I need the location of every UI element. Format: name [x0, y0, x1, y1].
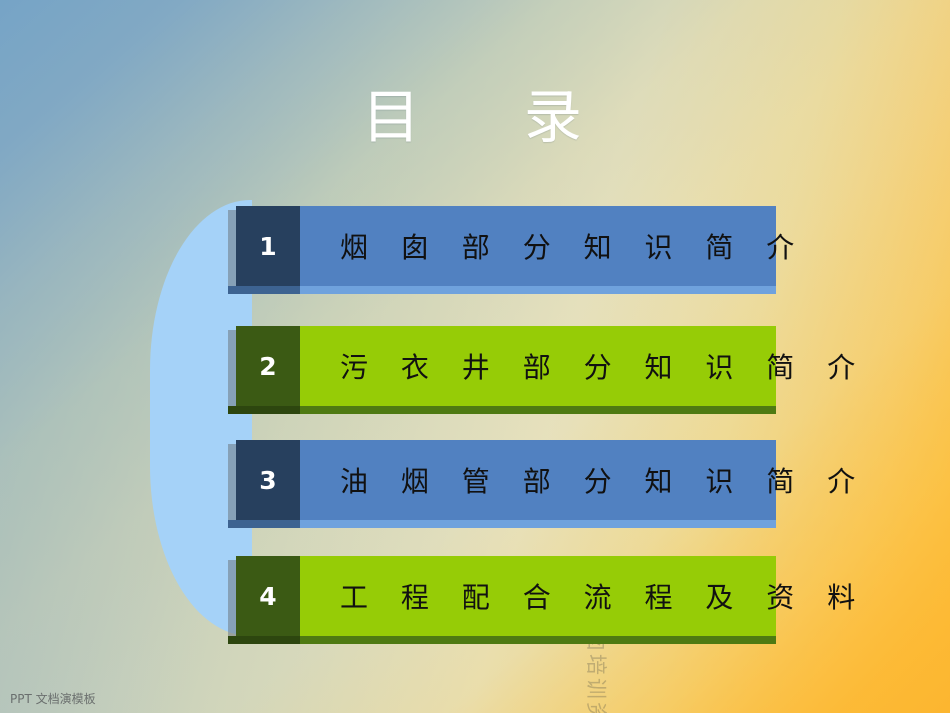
- agenda-item-1-bar[interactable]: 烟 囱 部 分 知 识 简 介: [300, 206, 776, 286]
- agenda-item-2-bar-edge: [228, 406, 776, 414]
- agenda-item-2-number: 2: [236, 326, 300, 406]
- agenda-item-4-label: 工 程 配 合 流 程 及 资 料: [300, 576, 867, 616]
- agenda-item-2-bar[interactable]: 污 衣 井 部 分 知 识 简 介: [300, 326, 776, 406]
- agenda-item-4-number-edge: [228, 636, 300, 644]
- agenda-item-3-number-edge: [228, 520, 300, 528]
- presentation-slide: 目 录 1 烟 囱 部 分 知 识 简 介 2 污 衣 井 部 分 知 识 简 …: [0, 0, 950, 713]
- agenda-item-4-bar-edge: [228, 636, 776, 644]
- agenda-item-1-bar-edge: [228, 286, 776, 294]
- agenda-item-3-bar[interactable]: 油 烟 管 部 分 知 识 简 介: [300, 440, 776, 520]
- agenda-item-4-bar[interactable]: 工 程 配 合 流 程 及 资 料: [300, 556, 776, 636]
- agenda-item-4-number: 4: [236, 556, 300, 636]
- corner-watermark: PPT 文档演模板: [10, 690, 96, 707]
- agenda-item-2-number-edge: [228, 406, 300, 414]
- agenda-item-2-label: 污 衣 井 部 分 知 识 简 介: [300, 346, 867, 386]
- agenda-item-1-number-edge: [228, 286, 300, 294]
- agenda-item-1-number: 1: [236, 206, 300, 286]
- agenda-item-1-label: 烟 囱 部 分 知 识 简 介: [300, 226, 806, 266]
- agenda-list: 1 烟 囱 部 分 知 识 简 介 2 污 衣 井 部 分 知 识 简 介 3 …: [0, 0, 950, 713]
- agenda-item-3-bar-edge: [228, 520, 776, 528]
- agenda-item-3-label: 油 烟 管 部 分 知 识 简 介: [300, 460, 867, 500]
- agenda-item-3-number: 3: [236, 440, 300, 520]
